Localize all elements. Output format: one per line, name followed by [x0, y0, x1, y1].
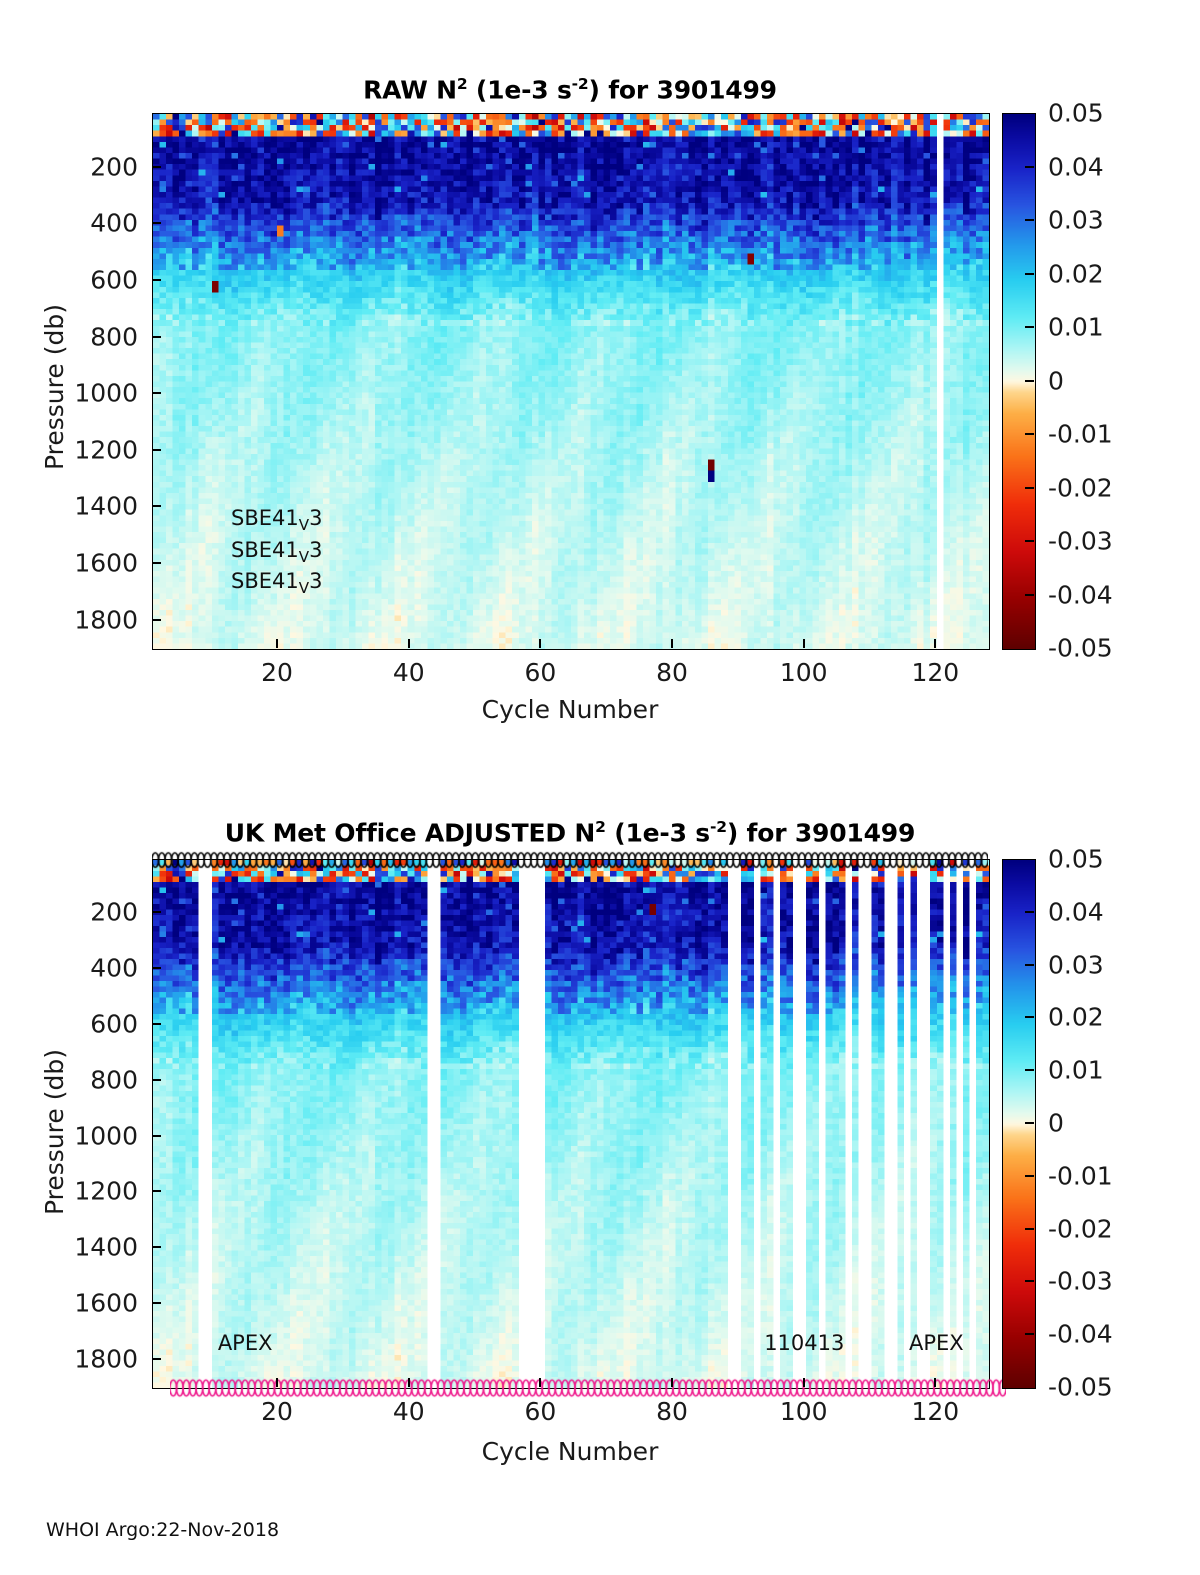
x-tick-mark	[539, 639, 541, 648]
y-tick-mark	[152, 1358, 161, 1360]
sensor-label-1-subscript: V	[299, 517, 309, 535]
y-tick-mark	[152, 336, 161, 338]
sensor-label-1-tail: 3	[309, 506, 322, 530]
colorbar-tick-mark	[1025, 1280, 1034, 1282]
colorbar-tick-label: -0.02	[1048, 473, 1113, 502]
raw-title-sup1: 2	[457, 75, 468, 93]
y-tick-label: 1400	[0, 492, 138, 521]
colorbar-tick-label: 0	[1048, 366, 1064, 395]
y-tick-mark	[152, 1190, 161, 1192]
colorbar-tick-mark	[1025, 487, 1034, 489]
y-tick-mark	[152, 1302, 161, 1304]
y-tick-label: 1200	[0, 435, 138, 464]
sensor-label-1: SBE41V3	[231, 506, 322, 534]
colorbar-tick-mark	[1025, 219, 1034, 221]
sensor-label-2-tail: 3	[309, 538, 322, 562]
colorbar-tick-mark	[1025, 326, 1034, 328]
x-tick-label: 60	[524, 1397, 556, 1426]
x-tick-mark	[539, 1378, 541, 1387]
colorbar-tick-label: -0.05	[1048, 1373, 1113, 1402]
adjusted-plot-title: UK Met Office ADJUSTED N2 (1e-3 s-2) for…	[152, 818, 988, 847]
x-tick-label: 20	[261, 1397, 293, 1426]
colorbar-tick-mark	[1025, 964, 1034, 966]
raw-x-axis-label: Cycle Number	[482, 695, 659, 724]
x-tick-label: 20	[261, 658, 293, 687]
y-tick-mark	[152, 1246, 161, 1248]
x-tick-mark	[934, 639, 936, 648]
y-tick-label: 1000	[0, 1121, 138, 1150]
colorbar-tick-label: -0.03	[1048, 1267, 1113, 1296]
y-tick-label: 1200	[0, 1177, 138, 1206]
raw-title-suffix: ) for 3901499	[588, 75, 776, 104]
y-tick-label: 1800	[0, 1345, 138, 1374]
x-tick-label: 80	[656, 1397, 688, 1426]
y-tick-label: 800	[0, 1065, 138, 1094]
y-tick-mark	[152, 967, 161, 969]
y-tick-label: 1600	[0, 549, 138, 578]
colorbar-tick-label: 0.04	[1048, 152, 1104, 181]
colorbar-tick-label: 0.03	[1048, 206, 1104, 235]
colorbar-tick-label: -0.04	[1048, 1320, 1113, 1349]
sensor-label-3-subscript: V	[299, 579, 309, 597]
sensor-label-2-subscript: V	[299, 548, 309, 566]
y-tick-label: 1600	[0, 1289, 138, 1318]
adjusted-y-axis-label: Pressure (db)	[40, 1049, 69, 1215]
y-tick-mark	[152, 1079, 161, 1081]
colorbar-tick-label: 0.01	[1048, 1056, 1104, 1085]
adj-title-sup2: -2	[710, 818, 727, 836]
y-tick-mark	[152, 562, 161, 564]
y-tick-label: 1800	[0, 605, 138, 634]
x-tick-mark	[276, 1378, 278, 1387]
colorbar-tick-label: 0.03	[1048, 950, 1104, 979]
y-tick-mark	[152, 222, 161, 224]
colorbar-tick-label: 0.02	[1048, 259, 1104, 288]
adj-title-suffix: ) for 3901499	[727, 818, 915, 847]
x-tick-mark	[934, 1378, 936, 1387]
x-tick-label: 100	[780, 1397, 828, 1426]
colorbar-tick-mark	[1025, 1333, 1034, 1335]
sensor-label-3: SBE41V3	[231, 569, 322, 597]
raw-title-sup2: -2	[572, 75, 589, 93]
colorbar-tick-label: -0.02	[1048, 1214, 1113, 1243]
x-tick-label: 120	[911, 658, 959, 687]
footer-credit: WHOI Argo:22-Nov-2018	[46, 1519, 279, 1541]
adj-title-prefix: UK Met Office ADJUSTED N	[225, 818, 595, 847]
x-tick-label: 40	[393, 1397, 425, 1426]
y-tick-mark	[152, 1135, 161, 1137]
colorbar-tick-mark	[1025, 1175, 1034, 1177]
x-tick-label: 40	[393, 658, 425, 687]
colorbar-tick-label: 0.01	[1048, 313, 1104, 342]
raw-colorbar	[1002, 113, 1036, 650]
y-tick-mark	[152, 449, 161, 451]
colorbar-tick-label: -0.01	[1048, 420, 1113, 449]
colorbar-tick-mark	[1025, 380, 1034, 382]
colorbar-tick-mark	[1025, 166, 1034, 168]
y-tick-mark	[152, 911, 161, 913]
colorbar-tick-label: -0.03	[1048, 527, 1113, 556]
platform-label-1: APEX	[218, 1331, 273, 1355]
x-tick-mark	[276, 639, 278, 648]
colorbar-tick-mark	[1025, 1228, 1034, 1230]
y-tick-label: 400	[0, 209, 138, 238]
x-tick-label: 120	[911, 1397, 959, 1426]
wmo-code-label: 110413	[764, 1331, 844, 1355]
y-tick-label: 400	[0, 953, 138, 982]
adjusted-plot-area[interactable]	[152, 859, 990, 1389]
x-tick-mark	[408, 639, 410, 648]
sensor-label-3-tail: 3	[309, 569, 322, 593]
colorbar-tick-label: 0.05	[1048, 99, 1104, 128]
adjusted-x-axis-label: Cycle Number	[482, 1437, 659, 1466]
raw-plot-title: RAW N2 (1e-3 s-2) for 3901499	[152, 75, 988, 104]
colorbar-tick-label: 0.04	[1048, 897, 1104, 926]
platform-label-1-text: APEX	[218, 1331, 273, 1355]
platform-label-2: APEX	[909, 1331, 964, 1355]
x-tick-mark	[803, 1378, 805, 1387]
colorbar-tick-mark	[1025, 1016, 1034, 1018]
x-tick-mark	[671, 1378, 673, 1387]
x-tick-label: 80	[656, 658, 688, 687]
sensor-label-1-text: SBE41	[231, 506, 299, 530]
colorbar-tick-label: 0.05	[1048, 845, 1104, 874]
platform-label-2-text: APEX	[909, 1331, 964, 1355]
colorbar-tick-label: -0.05	[1048, 634, 1113, 663]
sensor-label-2: SBE41V3	[231, 538, 322, 566]
x-tick-label: 60	[524, 658, 556, 687]
y-tick-mark	[152, 1023, 161, 1025]
y-tick-mark	[152, 505, 161, 507]
raw-title-prefix: RAW N	[363, 75, 457, 104]
adj-title-sup1: 2	[595, 818, 606, 836]
y-tick-label: 200	[0, 152, 138, 181]
y-tick-label: 1400	[0, 1233, 138, 1262]
sensor-label-3-text: SBE41	[231, 569, 299, 593]
y-tick-mark	[152, 279, 161, 281]
colorbar-tick-label: 0	[1048, 1109, 1064, 1138]
y-tick-label: 600	[0, 266, 138, 295]
wmo-code-label-text: 110413	[764, 1331, 844, 1355]
colorbar-tick-mark	[1025, 540, 1034, 542]
x-tick-mark	[408, 1378, 410, 1387]
y-tick-mark	[152, 166, 161, 168]
adj-title-mid: (1e-3 s	[606, 818, 710, 847]
raw-y-axis-label: Pressure (db)	[40, 304, 69, 470]
colorbar-tick-mark	[1025, 1069, 1034, 1071]
x-tick-mark	[671, 639, 673, 648]
colorbar-tick-label: 0.02	[1048, 1003, 1104, 1032]
colorbar-tick-mark	[1025, 911, 1034, 913]
colorbar-tick-mark	[1025, 273, 1034, 275]
y-tick-label: 1000	[0, 379, 138, 408]
colorbar-tick-mark	[1025, 433, 1034, 435]
sensor-label-2-text: SBE41	[231, 538, 299, 562]
adjusted-heatmap	[153, 860, 989, 1388]
raw-title-mid: (1e-3 s	[467, 75, 571, 104]
y-tick-mark	[152, 619, 161, 621]
colorbar-tick-label: -0.01	[1048, 1161, 1113, 1190]
adjusted-colorbar	[1002, 859, 1036, 1389]
y-tick-label: 200	[0, 898, 138, 927]
y-tick-label: 800	[0, 322, 138, 351]
colorbar-tick-label: -0.04	[1048, 580, 1113, 609]
colorbar-tick-mark	[1025, 1122, 1034, 1124]
y-tick-mark	[152, 392, 161, 394]
x-tick-mark	[803, 639, 805, 648]
colorbar-tick-mark	[1025, 594, 1034, 596]
x-tick-label: 100	[780, 658, 828, 687]
y-tick-label: 600	[0, 1009, 138, 1038]
